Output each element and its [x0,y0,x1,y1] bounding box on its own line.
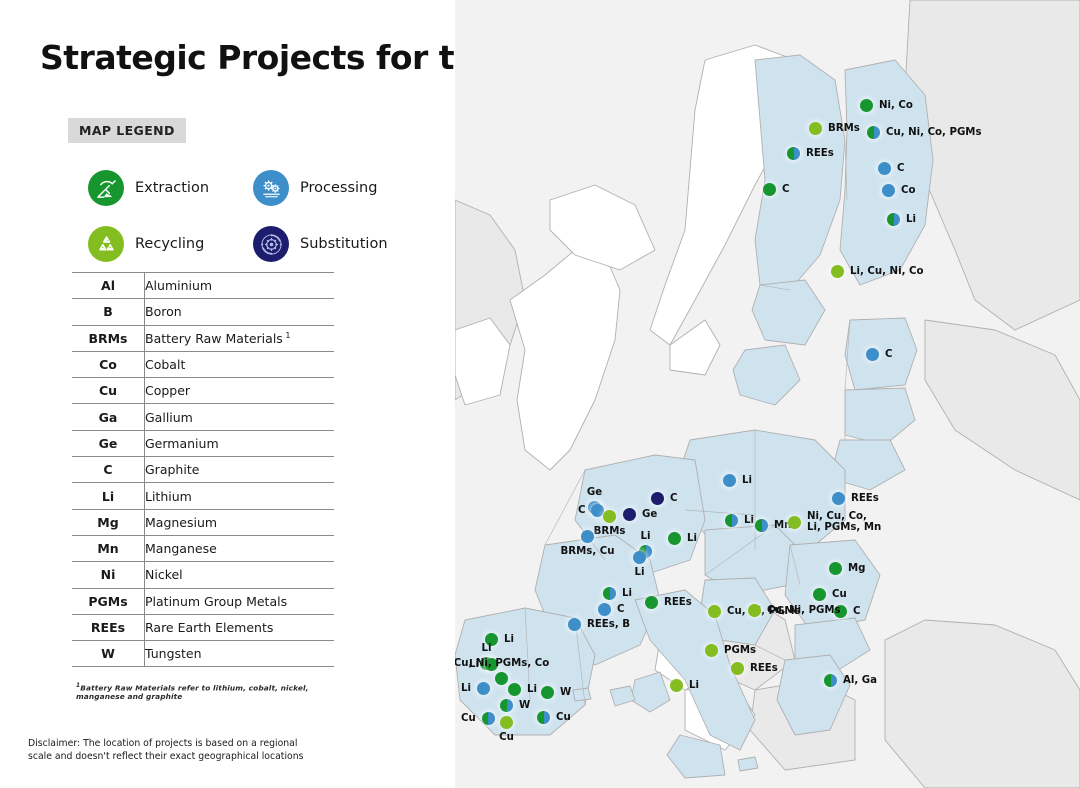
abbreviation-code: Ge [72,430,145,456]
map-marker-dot [887,213,900,226]
map-marker[interactable]: Cu [537,711,571,724]
map-marker-dot [500,716,513,729]
map-marker[interactable]: REEs, B [568,618,630,631]
map-marker-dot [809,122,822,135]
abbreviation-name: Boron [145,299,335,325]
map-marker-dot [813,588,826,601]
abbreviation-name: Graphite [145,457,335,483]
abbreviation-code: Al [72,273,145,299]
table-row: PGMsPlatinum Group Metals [72,588,334,614]
table-row: GeGermanium [72,430,334,456]
table-row: CGraphite [72,457,334,483]
infographic-page: Strategic Projects for the EU MAP LEGEND [0,0,1080,788]
abbreviations-table: AlAluminiumBBoronBRMsBattery Raw Materia… [72,272,334,667]
map-marker-dot [831,265,844,278]
abbreviation-code: Mn [72,535,145,561]
map-marker-label: Co [901,185,915,196]
map-marker-dot [633,551,646,564]
abbreviation-name: Gallium [145,404,335,430]
map-marker-dot [623,508,636,521]
table-row: GaGallium [72,404,334,430]
map-marker-dot [708,605,721,618]
map-marker-label: Li [622,588,632,599]
map-marker-dot [787,147,800,160]
map-marker[interactable]: Cu, Ni, Co, PGMs [867,126,982,139]
map-marker-dot [603,587,616,600]
recycle-icon [88,226,124,262]
map-marker[interactable]: BRMs [809,122,860,135]
map-marker-dot [832,492,845,505]
map-marker[interactable]: C [763,183,789,196]
map-marker-dot [878,162,891,175]
abbreviation-name: Lithium [145,483,335,509]
map-marker[interactable]: Li [723,474,752,487]
map-marker-dot [541,686,554,699]
abbreviation-name: Platinum Group Metals [145,588,335,614]
abbreviation-code: W [72,641,145,667]
map-marker-label: BRMs, Cu [561,546,615,557]
map-marker-label: Ni, Co [879,100,913,111]
map-marker-dot [508,683,521,696]
map-marker-label: REEs, B [587,619,630,630]
abbreviation-code: REEs [72,614,145,640]
map-marker[interactable]: BRMs, Cu [581,530,594,543]
map-marker[interactable]: Co [882,184,915,197]
abbreviation-name: Magnesium [145,509,335,535]
map-marker[interactable]: Li [508,683,537,696]
map-marker-dot [670,679,683,692]
footnote: 1Battery Raw Materials refer to lithium,… [76,682,346,701]
map-marker-label: C [853,606,860,617]
map-marker-dot [581,530,594,543]
map-marker-label: Li, Cu, Ni, Co [850,266,923,277]
map-marker-label: REEs [806,148,834,159]
table-row: LiLithium [72,483,334,509]
map-marker-label: Cu, Ni, PGMs [767,605,841,616]
map-marker-label: BRMs [828,123,860,134]
table-row: WTungsten [72,641,334,667]
map-marker-label: Cu, Ni, Co, PGMs [886,127,982,138]
abbreviation-code: BRMs [72,325,145,351]
map-marker-dot [651,492,664,505]
map-marker[interactable]: Li [461,682,490,695]
map-marker-label: REEs [664,597,692,608]
table-row: MgMagnesium [72,509,334,535]
map-marker-label: Li [744,515,754,526]
legend-label-extraction: Extraction [135,180,209,196]
legend-label-recycling: Recycling [135,236,204,252]
legend-label-substitution: Substitution [300,236,388,252]
abbreviation-code: C [72,457,145,483]
map-marker-label: Li [906,214,916,225]
abbreviation-code: Co [72,351,145,377]
map-marker-dot [568,618,581,631]
map-marker-dot [882,184,895,197]
map-marker[interactable]: REEs [832,492,879,505]
map-marker[interactable]: C [866,348,892,361]
table-row: BRMsBattery Raw Materials 1 [72,325,334,351]
map-marker[interactable]: Li, Cu, Ni, Co [831,265,923,278]
map-marker[interactable]: C [598,603,624,616]
map-marker-label: Li [687,533,697,544]
abbreviation-code: Cu [72,378,145,404]
abbreviation-code: B [72,299,145,325]
map-marker[interactable]: Cu [461,712,495,725]
map-marker-label: REEs [750,663,778,674]
table-row: REEsRare Earth Elements [72,614,334,640]
map-marker-label: Cu [499,732,514,743]
abbreviation-code: Ni [72,562,145,588]
map-marker-label: BRMs [594,526,626,537]
gears-icon [253,170,289,206]
map-marker[interactable]: C [578,504,604,517]
map-marker-dot [867,126,880,139]
map-marker[interactable]: Li [670,679,699,692]
abbreviation-name: Aluminium [145,273,335,299]
disclaimer-text: Disclaimer: The location of projects is … [28,738,318,763]
abbreviation-code: Mg [72,509,145,535]
legend-row: Recycling [88,216,418,272]
map-marker-label: Ni, Cu, Co,Li, PGMs, Mn [807,511,881,534]
map-marker[interactable]: REEs [731,662,778,675]
map-marker[interactable]: W [500,699,530,712]
europe-map[interactable]: Ni, CoCu, Ni, Co, PGMsBRMsREEsCCCoLiLi, … [455,0,1080,788]
map-marker-label: REEs [851,493,879,504]
abbreviation-name: Manganese [145,535,335,561]
map-marker-dot [537,711,550,724]
map-marker[interactable]: C [878,162,904,175]
map-marker-dot [500,699,513,712]
table-row: CuCopper [72,378,334,404]
atom-gear-icon [253,226,289,262]
map-marker-label: Cu [556,712,571,723]
table-row: AlAluminium [72,273,334,299]
map-marker-dot [477,682,490,695]
table-row: NiNickel [72,562,334,588]
map-marker-dot [763,183,776,196]
map-marker-dot [668,532,681,545]
map-marker-label: C [782,184,789,195]
map-marker-label: Ge [587,487,602,498]
map-marker-label: Al, Ga [843,675,877,686]
map-marker[interactable]: Ge [623,508,657,521]
map-marker-label: Li [635,567,645,578]
footnote-ref: 1 [283,331,291,340]
map-marker-dot [824,674,837,687]
map-marker-dot [788,516,801,529]
abbreviation-code: PGMs [72,588,145,614]
map-marker-label: C [617,604,624,615]
table-row: MnManganese [72,535,334,561]
map-marker-dot [482,712,495,725]
legend-icon-grid: Extraction [88,160,418,272]
footnote-text: Battery Raw Materials refer to lithium, … [76,683,309,701]
legend-item-extraction[interactable]: Extraction [88,170,253,206]
table-row: CoCobalt [72,351,334,377]
abbreviation-code: Li [72,483,145,509]
map-marker-label: Li [482,643,492,654]
abbreviation-code: Ga [72,404,145,430]
map-marker[interactable]: Al, Ga [824,674,877,687]
map-marker[interactable]: Cu, Ni, PGMs, Co [495,672,508,685]
legend-label-processing: Processing [300,180,377,196]
map-marker-label: Cu [832,589,847,600]
abbreviation-name: Germanium [145,430,335,456]
map-marker-label: C [897,163,904,174]
abbreviation-name: Nickel [145,562,335,588]
map-marker-label: Li [527,684,537,695]
map-marker-dot [723,474,736,487]
map-marker[interactable]: PGMs [705,644,756,657]
abbreviation-name: Tungsten [145,641,335,667]
map-marker-label: Cu [461,713,476,724]
map-marker-label: C [670,493,677,504]
map-marker-dot [829,562,842,575]
map-marker-label: Li [641,531,651,542]
map-marker[interactable]: Li [725,514,754,527]
legend-item-substitution[interactable]: Substitution [253,226,418,262]
map-marker[interactable]: W [541,686,571,699]
map-marker-label: Ge [642,509,657,520]
map-marker-dot [866,348,879,361]
map-marker[interactable]: Mg [829,562,865,575]
legend-item-recycling[interactable]: Recycling [88,226,253,262]
map-marker[interactable]: Li [603,587,632,600]
map-marker[interactable]: Cu [500,716,513,729]
map-marker[interactable]: Li [633,551,646,564]
map-marker[interactable]: C [651,492,677,505]
map-marker-dot [860,99,873,112]
map-marker-dot [495,672,508,685]
abbreviation-name: Battery Raw Materials 1 [145,325,335,351]
map-marker-label: Mg [848,563,865,574]
map-marker-dot [748,604,761,617]
legend-row: Extraction [88,160,418,216]
pickaxe-icon [88,170,124,206]
abbreviation-name: Rare Earth Elements [145,614,335,640]
map-marker-dot [755,519,768,532]
map-marker[interactable]: REEs [787,147,834,160]
map-marker-label: Li [504,634,514,645]
map-marker-label: PGMs [724,645,756,656]
map-marker-label: Li [461,683,471,694]
map-marker-dot [731,662,744,675]
map-marker-dot [603,510,616,523]
map-marker-dot [598,603,611,616]
map-marker-label: W [560,687,571,698]
map-marker[interactable]: Cu [813,588,847,601]
map-marker[interactable]: BRMs [603,510,616,523]
map-marker-label: C [885,349,892,360]
map-marker-label: Li [689,680,699,691]
map-marker-dot [645,596,658,609]
map-marker-label: C [578,505,585,516]
map-marker-label: W [519,700,530,711]
map-marker-label: Cu, Ni, PGMs, Co [455,658,549,669]
legend-item-processing[interactable]: Processing [253,170,418,206]
map-marker[interactable]: REEs [645,596,692,609]
map-marker-dot [705,644,718,657]
map-marker[interactable]: Ni, Co [860,99,913,112]
map-marker[interactable]: Li [668,532,697,545]
map-marker[interactable]: Li [887,213,916,226]
left-panel: Strategic Projects for the EU MAP LEGEND [0,0,460,788]
map-marker[interactable]: Mn [755,519,791,532]
abbreviation-name: Copper [145,378,335,404]
abbreviation-name: Cobalt [145,351,335,377]
map-marker-dot [725,514,738,527]
map-marker[interactable]: Ni, Cu, Co,Li, PGMs, Mn [788,511,881,534]
map-marker-label: Li [742,475,752,486]
map-legend-badge: MAP LEGEND [68,118,186,143]
map-marker[interactable]: Cu, Ni, PGMs [748,604,841,617]
table-row: BBoron [72,299,334,325]
